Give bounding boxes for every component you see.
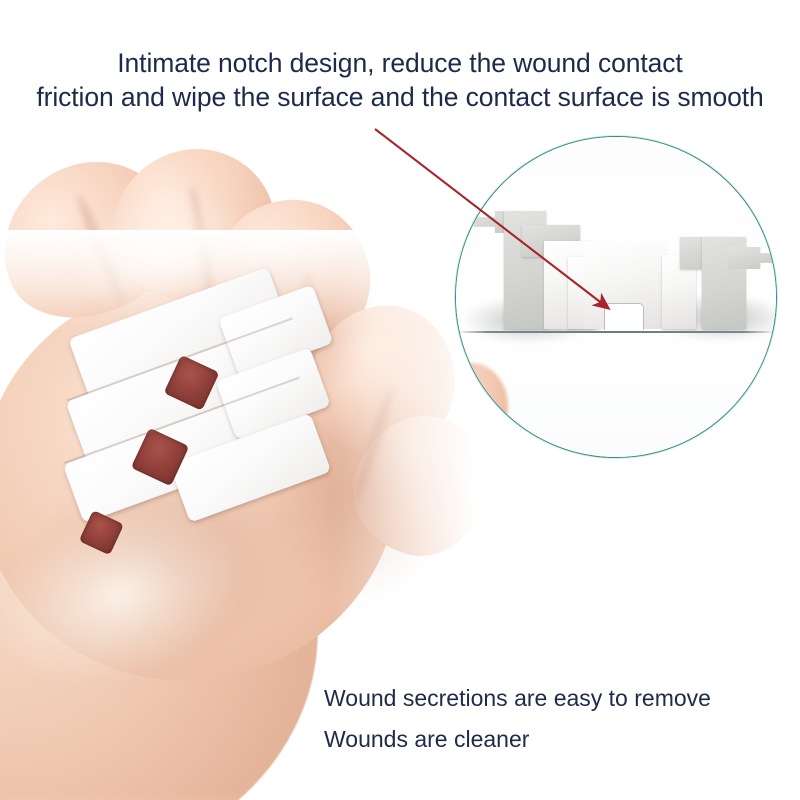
caption-line-2: Wounds are cleaner [324,719,711,760]
caption-line-1: Wound secretions are easy to remove [324,678,711,719]
product-image-canvas: Intimate notch design, reduce the wound … [0,0,800,800]
inset-surface-line [456,331,776,333]
caption-block: Wound secretions are easy to remove Woun… [324,678,711,760]
headline-line-2: friction and wipe the surface and the co… [0,80,800,114]
magnifier-background [456,137,776,457]
headline: Intimate notch design, reduce the wound … [0,46,800,114]
headline-line-1: Intimate notch design, reduce the wound … [0,46,800,80]
notch-detail-circle [455,136,777,458]
inset-strip-right-tab [728,247,777,269]
inset-fingertip [455,363,508,449]
inset-notch-cut [604,303,644,330]
